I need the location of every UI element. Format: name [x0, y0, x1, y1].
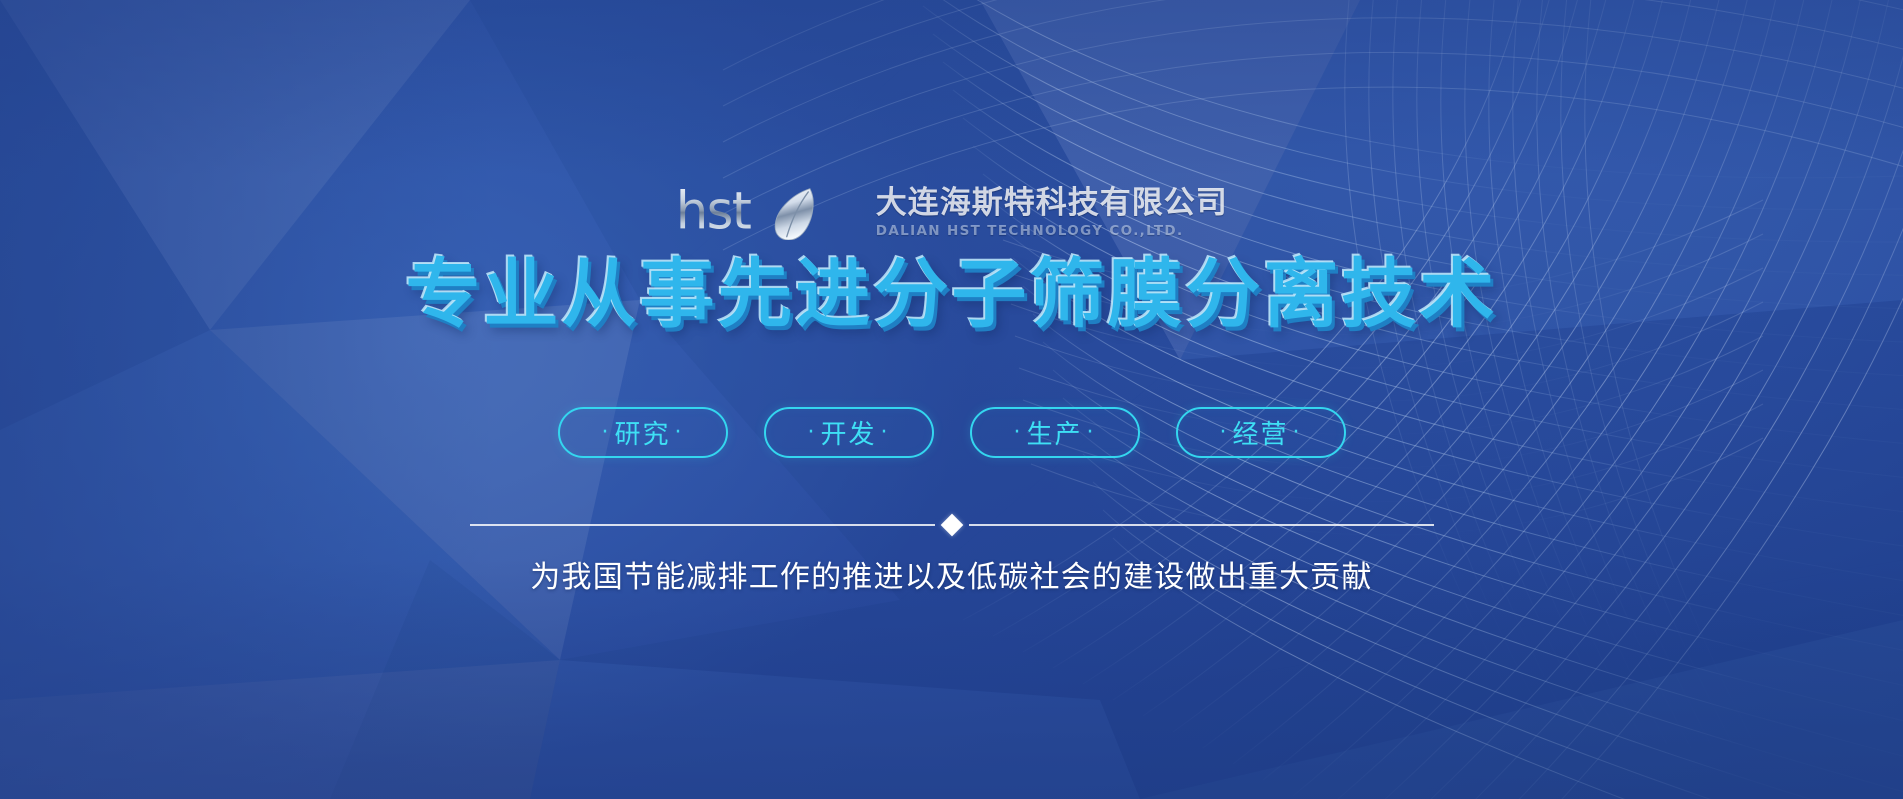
banner-content: hst 大连海斯特科技有限公司 DALIAN HST TECHNOLOGY CO…	[0, 0, 1903, 799]
pill-dot-right: ·	[1083, 420, 1100, 445]
pill-production[interactable]: · 生产 ·	[970, 407, 1140, 458]
divider-rule-right	[969, 524, 1434, 526]
pill-label: 开发	[820, 414, 876, 451]
leaf-icon	[775, 189, 813, 240]
company-name-en: DALIAN HST TECHNOLOGY CO.,LTD.	[876, 223, 1228, 239]
pill-dot-right: ·	[671, 420, 688, 445]
svg-text:hst: hst	[675, 182, 750, 240]
pill-dot-right: ·	[1289, 420, 1306, 445]
company-logo: hst 大连海斯特科技有限公司 DALIAN HST TECHNOLOGY CO…	[675, 181, 1228, 241]
pill-dot-left: ·	[597, 420, 614, 445]
divider-rule-left	[470, 524, 935, 526]
pill-research[interactable]: · 研究 ·	[558, 407, 728, 458]
pill-operation[interactable]: · 经营 ·	[1176, 407, 1346, 458]
pill-label: 生产	[1026, 414, 1082, 451]
pill-dot-left: ·	[803, 420, 820, 445]
divider	[470, 517, 1434, 533]
pill-label: 经营	[1232, 414, 1288, 451]
pill-dot-left: ·	[1009, 420, 1026, 445]
company-name-block: 大连海斯特科技有限公司 DALIAN HST TECHNOLOGY CO.,LT…	[876, 187, 1228, 241]
diamond-icon	[940, 514, 963, 537]
hst-wordmark: hst	[675, 181, 866, 241]
headline: 专业从事先进分子筛膜分离技术	[405, 257, 1497, 332]
pill-dot-left: ·	[1215, 420, 1232, 445]
pill-dot-right: ·	[877, 420, 894, 445]
keyword-pill-group: · 研究 · · 开发 · · 生产 · · 经营 ·	[558, 407, 1346, 458]
company-name-cn: 大连海斯特科技有限公司	[876, 187, 1228, 220]
pill-label: 研究	[614, 414, 670, 451]
hero-banner: hst 大连海斯特科技有限公司 DALIAN HST TECHNOLOGY CO…	[0, 0, 1903, 799]
pill-development[interactable]: · 开发 ·	[764, 407, 934, 458]
tagline: 为我国节能减排工作的推进以及低碳社会的建设做出重大贡献	[530, 552, 1372, 596]
